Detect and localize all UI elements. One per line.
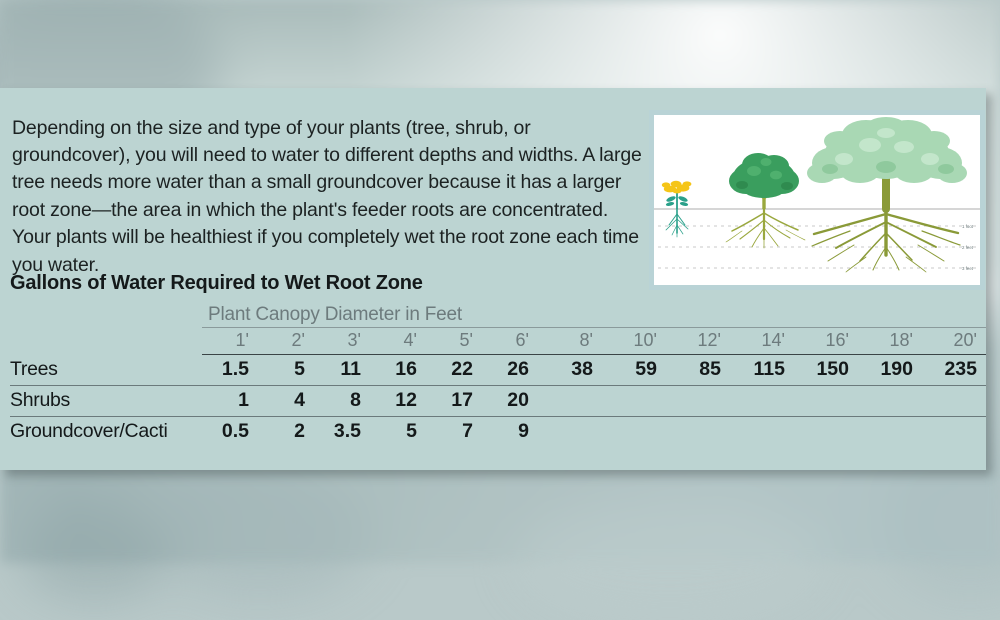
table-cell: 85 — [666, 355, 730, 386]
table-cell: 38 — [538, 355, 602, 386]
table-cell: 11 — [314, 355, 370, 386]
table-cell: 22 — [426, 355, 482, 386]
row-label-groundcover-cacti: Groundcover/Cacti — [10, 417, 202, 448]
table-cell: 5 — [258, 355, 314, 386]
table-cell: 1 — [202, 386, 258, 417]
table-cell-empty — [922, 417, 986, 448]
column-header-2ft: 2' — [258, 328, 314, 355]
table-cell: 9 — [482, 417, 538, 448]
column-header-18ft: 18' — [858, 328, 922, 355]
column-header-16ft: 16' — [794, 328, 858, 355]
table-cell: 0.5 — [202, 417, 258, 448]
table-cell-empty — [794, 386, 858, 417]
table-cell: 20 — [482, 386, 538, 417]
table-cell: 7 — [426, 417, 482, 448]
table-cell: 5 — [370, 417, 426, 448]
super-header-label: Plant Canopy Diameter in Feet — [202, 304, 986, 328]
row-label-trees: Trees — [10, 355, 202, 386]
column-header-20ft: 20' — [922, 328, 986, 355]
table-row: Groundcover/Cacti0.523.5579 — [10, 417, 986, 448]
table-cell-empty — [602, 386, 666, 417]
table-cell: 2 — [258, 417, 314, 448]
table-cell-empty — [666, 417, 730, 448]
column-header-6ft: 6' — [482, 328, 538, 355]
table-cell: 235 — [922, 355, 986, 386]
row-label-shrubs: Shrubs — [10, 386, 202, 417]
column-header-14ft: 14' — [730, 328, 794, 355]
column-header-3ft: 3' — [314, 328, 370, 355]
table-cell: 26 — [482, 355, 538, 386]
root-zone-illustration: 1 foot 2 feet 3 feet — [649, 110, 985, 290]
table-cell: 12 — [370, 386, 426, 417]
table-cell-empty — [922, 386, 986, 417]
table-cell: 4 — [258, 386, 314, 417]
tree-plant — [807, 117, 967, 272]
table-cell: 150 — [794, 355, 858, 386]
table-cell-empty — [538, 386, 602, 417]
table-cell: 59 — [602, 355, 666, 386]
table-cell: 115 — [730, 355, 794, 386]
column-header-8ft: 8' — [538, 328, 602, 355]
depth-label-1ft: 1 foot — [962, 224, 974, 229]
illustration-canvas: 1 foot 2 feet 3 feet — [654, 115, 980, 285]
table-cell: 8 — [314, 386, 370, 417]
depth-label-3ft: 3 feet — [962, 266, 974, 271]
table-row: Shrubs148121720 — [10, 386, 986, 417]
background-blob — [150, 470, 370, 600]
column-header-1ft: 1' — [202, 328, 258, 355]
column-header-spacer — [10, 328, 202, 355]
table-cell-empty — [794, 417, 858, 448]
table-cell: 1.5 — [202, 355, 258, 386]
super-header-spacer — [10, 304, 202, 328]
table-cell-empty — [666, 386, 730, 417]
table-cell-empty — [602, 417, 666, 448]
column-header-4ft: 4' — [370, 328, 426, 355]
super-header-row: Plant Canopy Diameter in Feet — [10, 304, 986, 328]
table-cell-empty — [858, 386, 922, 417]
depth-label-2ft: 2 feet — [962, 245, 974, 250]
table-row: Trees1.5511162226385985115150190235 — [10, 355, 986, 386]
table-cell-empty — [858, 417, 922, 448]
table-cell: 17 — [426, 386, 482, 417]
table-cell-empty — [538, 417, 602, 448]
column-header-10ft: 10' — [602, 328, 666, 355]
plants-diagram-svg: 1 foot 2 feet 3 feet — [654, 115, 980, 285]
table-cell: 190 — [858, 355, 922, 386]
water-requirements-table: Plant Canopy Diameter in Feet 1'2'3'4'5'… — [10, 304, 976, 447]
table-cell-empty — [730, 417, 794, 448]
background-blob — [520, 500, 820, 620]
gallons-table: Plant Canopy Diameter in Feet 1'2'3'4'5'… — [10, 304, 986, 447]
table-body: Plant Canopy Diameter in Feet 1'2'3'4'5'… — [10, 304, 986, 447]
table-cell: 3.5 — [314, 417, 370, 448]
column-header-12ft: 12' — [666, 328, 730, 355]
table-cell-empty — [730, 386, 794, 417]
shrub-plant — [726, 153, 805, 248]
intro-paragraph: Depending on the size and type of your p… — [12, 115, 642, 279]
table-title: Gallons of Water Required to Wet Root Zo… — [10, 272, 423, 295]
background-blob — [20, 510, 170, 600]
table-cell: 16 — [370, 355, 426, 386]
column-header-row: 1'2'3'4'5'6'8'10'12'14'16'18'20' — [10, 328, 986, 355]
column-header-5ft: 5' — [426, 328, 482, 355]
info-card: Depending on the size and type of your p… — [0, 88, 986, 470]
